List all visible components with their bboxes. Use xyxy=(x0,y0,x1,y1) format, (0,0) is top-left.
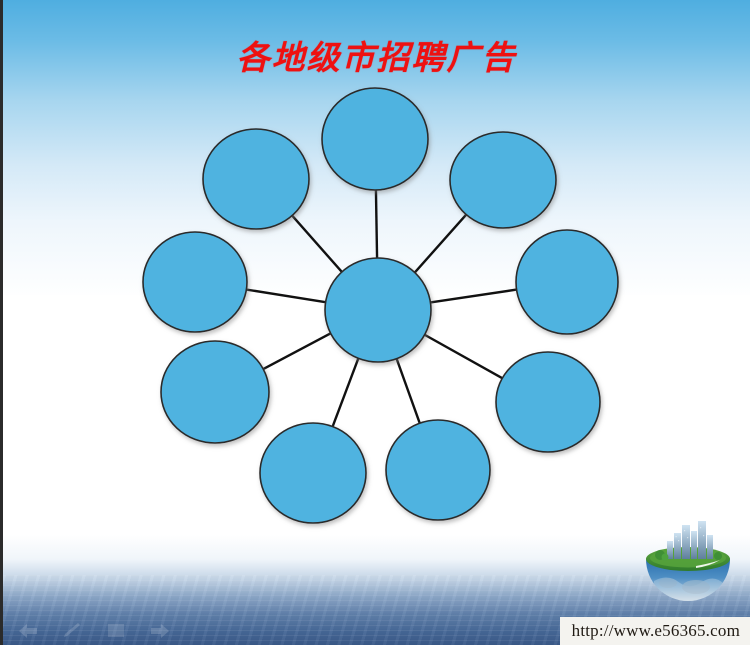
watermark-url: http://www.e56365.com xyxy=(560,617,750,645)
earth-city-globe-logo xyxy=(634,511,742,603)
ghost-toolbar xyxy=(17,622,171,640)
forward-arrow-icon xyxy=(149,622,171,640)
slide-canvas: 各地级市招聘广告 xyxy=(0,0,750,645)
page-title: 各地级市招聘广告 xyxy=(3,31,750,79)
square-icon xyxy=(105,622,127,640)
pencil-icon xyxy=(61,622,83,640)
back-arrow-icon xyxy=(17,622,39,640)
